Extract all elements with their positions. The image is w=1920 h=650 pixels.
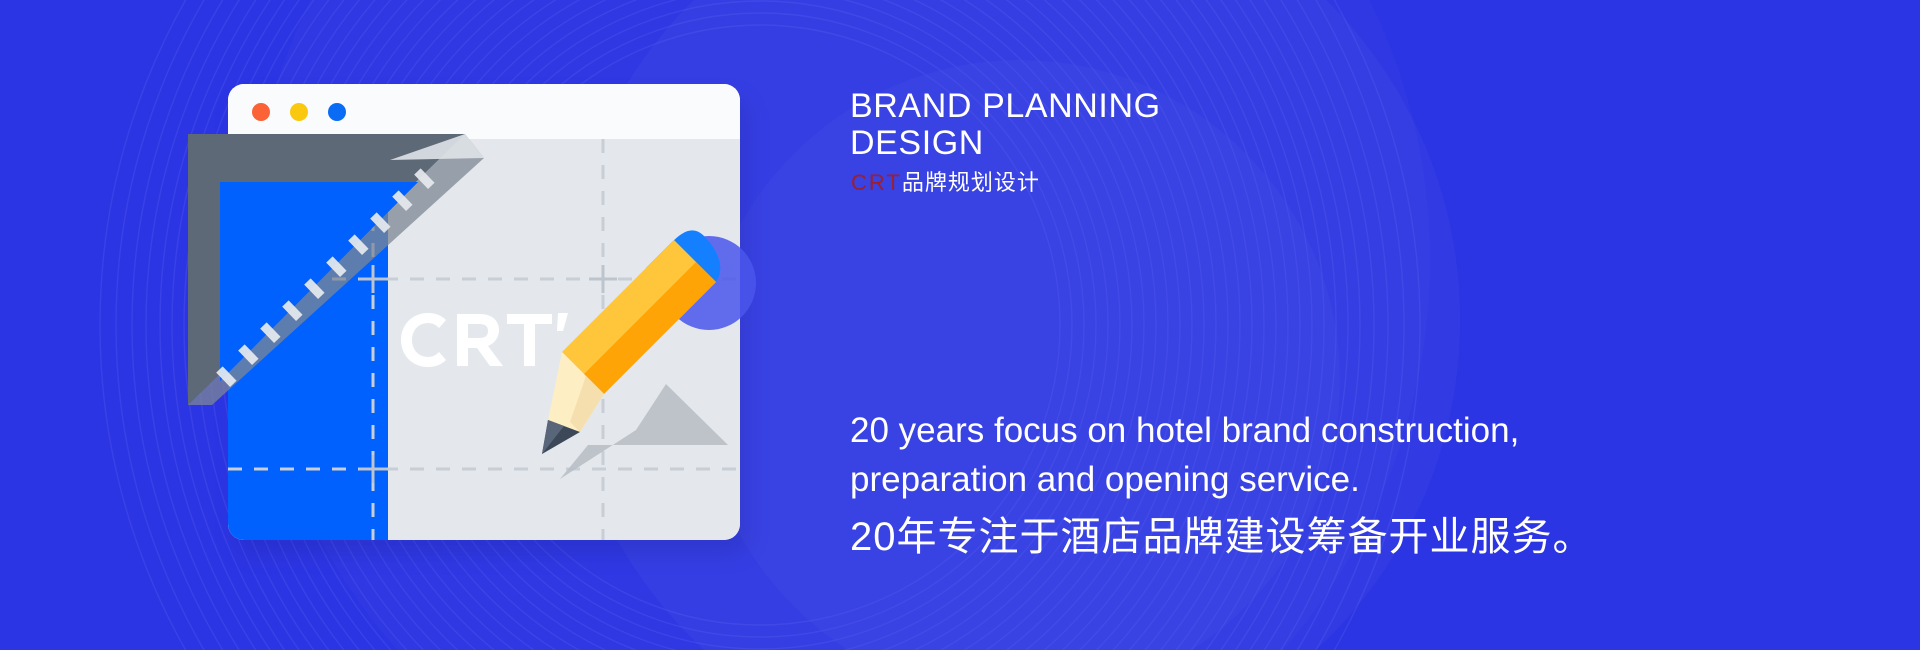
crt-wordmark: CRT: [851, 170, 902, 195]
tagline-english: 20 years focus on hotel brand constructi…: [850, 406, 1710, 504]
set-square-ruler-icon: [182, 126, 492, 411]
heading-brand-planning-design: BRAND PLANNING DESIGN: [850, 88, 1161, 162]
minimize-dot-icon: [290, 103, 308, 121]
close-dot-icon: [252, 103, 270, 121]
hero-illustration: [228, 84, 748, 554]
maximize-dot-icon: [328, 103, 346, 121]
copy-block: BRAND PLANNING DESIGN CRT品牌规划设计 20 years…: [850, 0, 1860, 650]
subtitle-chinese: CRT品牌规划设计: [851, 170, 1040, 196]
pencil-icon: [528, 224, 768, 494]
subtitle-chinese-text: 品牌规划设计: [902, 170, 1040, 195]
brand-banner: BRAND PLANNING DESIGN CRT品牌规划设计 20 years…: [0, 0, 1920, 650]
tagline-chinese: 20年专注于酒店品牌建设筹备开业服务。: [850, 510, 1594, 564]
